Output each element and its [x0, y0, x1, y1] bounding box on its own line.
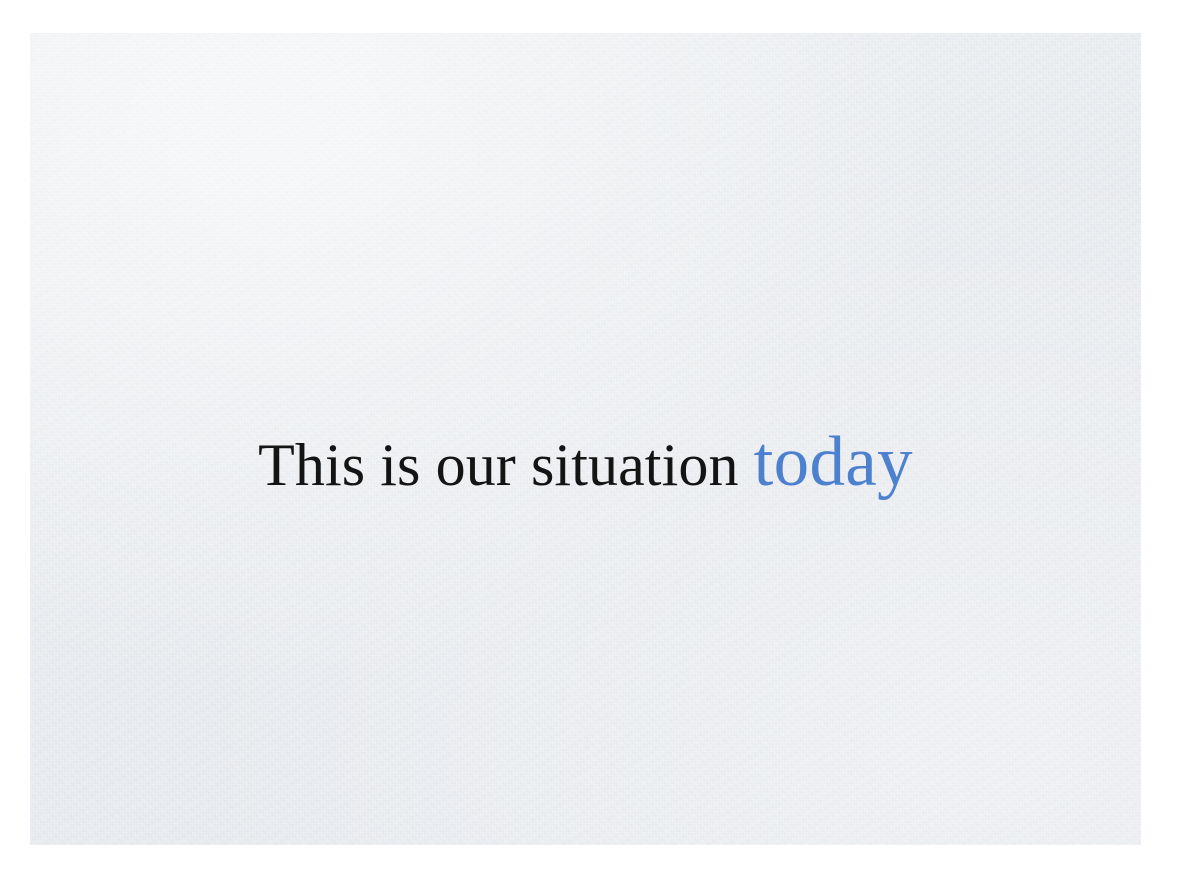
slide-canvas: This is our situation today — [0, 0, 1182, 886]
headline-accent-text: today — [754, 423, 913, 501]
headline-primary-text: This is our situation — [258, 432, 754, 498]
slide-surface: This is our situation today — [30, 33, 1141, 845]
slide-headline: This is our situation today — [30, 425, 1141, 500]
